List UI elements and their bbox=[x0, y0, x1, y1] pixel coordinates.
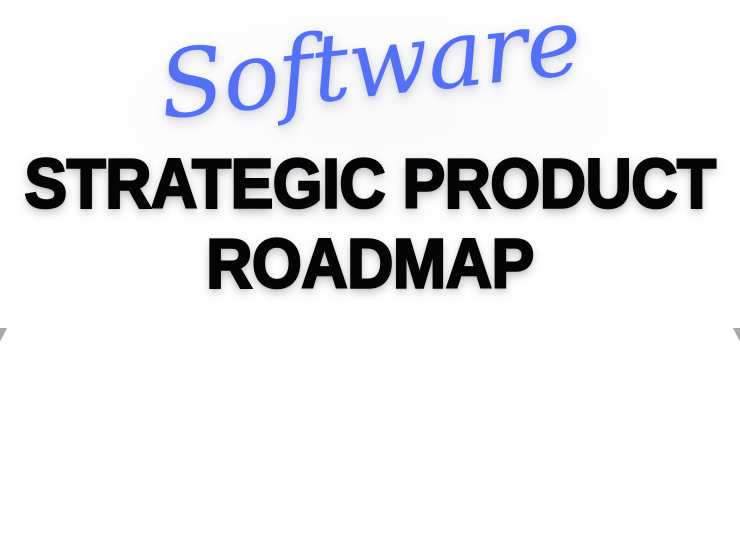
title-block: Software STRATEGIC PRODUCT ROADMAP bbox=[0, 0, 740, 330]
poster-canvas: Software STRATEGIC PRODUCT ROADMAP bbox=[0, 0, 740, 560]
page-title-line-2: ROADMAP bbox=[11, 228, 729, 298]
page-title-line-1: STRATEGIC PRODUCT bbox=[11, 148, 729, 218]
gray-band bbox=[0, 328, 740, 560]
eyebrow-script-word: Software bbox=[0, 0, 740, 155]
